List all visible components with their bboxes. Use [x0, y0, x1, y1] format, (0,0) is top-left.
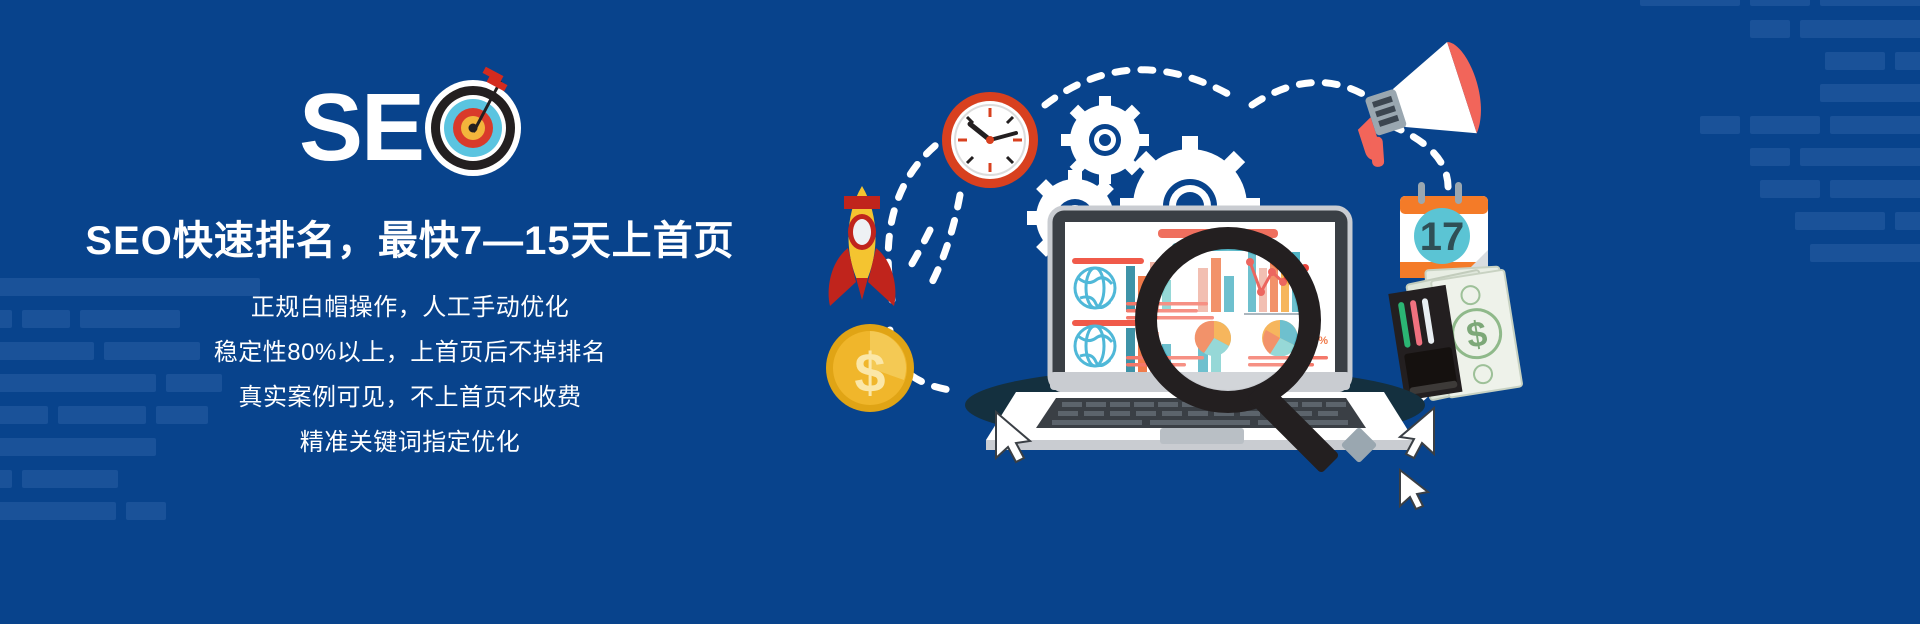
seo-illustration: 17 $ [800, 0, 1800, 624]
laptop-trackpad [1160, 428, 1244, 444]
code-block-segment [1895, 212, 1920, 230]
code-block-segment [1810, 244, 1920, 262]
code-block-segment [1895, 52, 1920, 70]
code-block-segment [1830, 116, 1920, 134]
calendar-icon: 17 [1400, 182, 1488, 278]
feature-line: 正规白帽操作，人工手动优化 [251, 296, 570, 320]
megaphone-icon [1341, 37, 1493, 171]
code-block-segment [1795, 212, 1885, 230]
wallet-money-icon: $ [1386, 258, 1523, 404]
target-bullseye-icon [425, 80, 521, 176]
code-block-segment [1820, 0, 1920, 6]
feature-line: 精准关键词指定优化 [300, 431, 521, 455]
cursor-arrow-icon [1400, 470, 1428, 509]
seo-promo-banner: SE SEO快速排名，最快7—15天上首页 正规白帽操作，人工手动优化 稳定性8… [0, 0, 1920, 624]
feature-line: 稳定性80%以上，上首页后不掉排名 [214, 341, 607, 365]
clock-icon [942, 92, 1038, 188]
dollar-symbol: $ [854, 341, 885, 404]
seo-wordmark: SE [299, 82, 521, 174]
code-block-segment [1800, 148, 1920, 166]
page-title: SEO快速排名，最快7—15天上首页 [85, 208, 734, 266]
feature-list: 正规白帽操作，人工手动优化 稳定性80%以上，上首页后不掉排名 真实案例可见，不… [214, 296, 607, 476]
seo-letters: SE [299, 80, 423, 176]
feature-line: 真实案例可见，不上首页不收费 [238, 386, 581, 410]
dollar-coin-icon: $ [826, 324, 914, 412]
code-block-segment [1820, 84, 1920, 102]
code-block-segment [1830, 180, 1920, 198]
banner-text-column: SE SEO快速排名，最快7—15天上首页 正规白帽操作，人工手动优化 稳定性8… [0, 0, 820, 624]
code-block-segment [1800, 20, 1920, 38]
calendar-day-label: 17 [1420, 215, 1465, 259]
code-block-segment [1825, 52, 1885, 70]
